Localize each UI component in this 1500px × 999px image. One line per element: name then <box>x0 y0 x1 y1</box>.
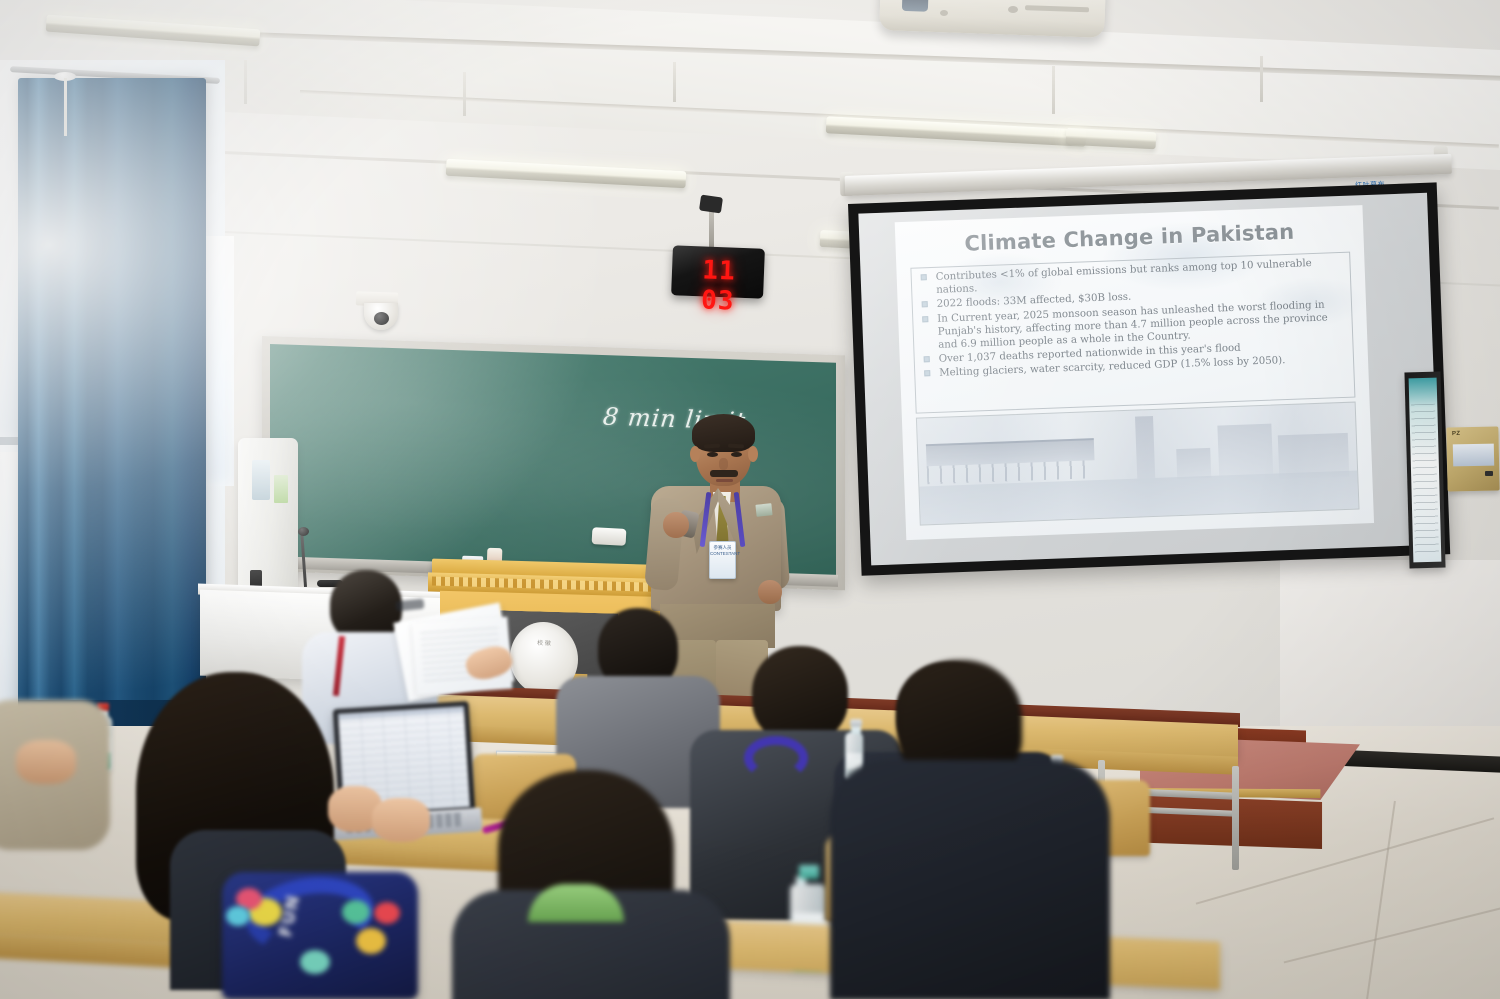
presenter-pocket-square <box>755 503 772 517</box>
projector-vent <box>1025 5 1089 12</box>
presenter-right-hand <box>758 580 782 604</box>
av-panel-port[interactable] <box>1485 471 1493 476</box>
bullet-square-icon <box>924 356 930 362</box>
av-panel-brand: PZ <box>1452 431 1460 437</box>
window-curtain[interactable] <box>18 78 206 768</box>
projection-screen-surface: Climate Change in Pakistan Contributes <… <box>858 193 1440 566</box>
clock-clip <box>699 195 723 214</box>
student-head <box>752 646 848 742</box>
badge-line-2: CONTESTANT <box>710 551 740 556</box>
bottle-cap <box>850 719 862 727</box>
backpack-patch-green <box>342 900 370 924</box>
presenter-left-hand <box>663 512 689 538</box>
lamp-stem-4 <box>463 72 466 116</box>
student-hand-typing <box>372 798 430 842</box>
presenter-ear-left <box>690 446 700 462</box>
projector-lens-icon <box>902 0 929 12</box>
bullet-square-icon <box>922 316 928 322</box>
presenter-ear-right <box>748 446 758 462</box>
slide-bullet-list: Contributes <1% of global emissions but … <box>919 256 1351 382</box>
photo-building-3 <box>1176 448 1211 479</box>
backpack-patch-gold <box>356 928 386 954</box>
student-lanyard <box>744 736 808 780</box>
lamp-stem-3 <box>673 62 676 102</box>
projection-screen[interactable]: Climate Change in Pakistan Contributes <… <box>848 182 1450 575</box>
presenter-mouth <box>716 479 733 482</box>
photo-bridge <box>926 438 1095 466</box>
water-dispenser-label <box>274 475 288 503</box>
photo-building-2 <box>1278 433 1350 480</box>
bullet-square-icon <box>921 274 927 280</box>
lamp-stem-1 <box>64 78 67 136</box>
countdown-timer-display: 11 03 <box>681 255 756 288</box>
desk-leg-2 <box>1232 766 1239 870</box>
badge-line-1: 参赛人员 <box>714 545 732 550</box>
presenter-badge-text: 参赛人员 CONTESTANT <box>710 545 735 557</box>
podium-seal-text: 校 徽 <box>520 639 568 648</box>
microphone-head-icon <box>298 527 309 536</box>
presentation-slide: Climate Change in Pakistan Contributes <… <box>895 205 1374 540</box>
presenter-eye-left <box>707 452 718 457</box>
wall-poster-text-lines <box>1411 404 1439 555</box>
photo-tower <box>1135 416 1155 479</box>
presenter-hair <box>692 414 755 452</box>
slide-flood-photo <box>916 402 1360 526</box>
av-panel-display <box>1453 444 1494 467</box>
presenter-eye-right <box>731 452 742 457</box>
presenter-nose <box>719 458 728 470</box>
backpack-patch-red <box>374 902 400 924</box>
lamp-stem-2 <box>244 60 247 104</box>
bullet-square-icon <box>924 371 930 377</box>
camera-lens-icon <box>374 312 389 325</box>
projector-knob-2 <box>940 10 948 16</box>
student-body <box>830 760 1110 999</box>
water-dispenser-window <box>252 460 270 500</box>
bullet-square-icon <box>922 302 928 308</box>
photo-building-1 <box>1217 424 1273 476</box>
backpack-patch-cyan <box>226 906 250 926</box>
blackboard-eraser[interactable] <box>592 527 627 546</box>
person-hand <box>16 740 76 784</box>
classroom-scene: 11 03 8 min limit 红叶幕布 Climate Change in… <box>0 0 1500 999</box>
bottle-cap <box>799 865 819 879</box>
backpack-patch-teal <box>300 950 330 974</box>
lamp-stem-6 <box>1052 66 1055 114</box>
presenter-moustache <box>710 470 738 477</box>
projector-knob-1 <box>1008 6 1018 13</box>
lamp-stem-5 <box>1260 56 1263 102</box>
